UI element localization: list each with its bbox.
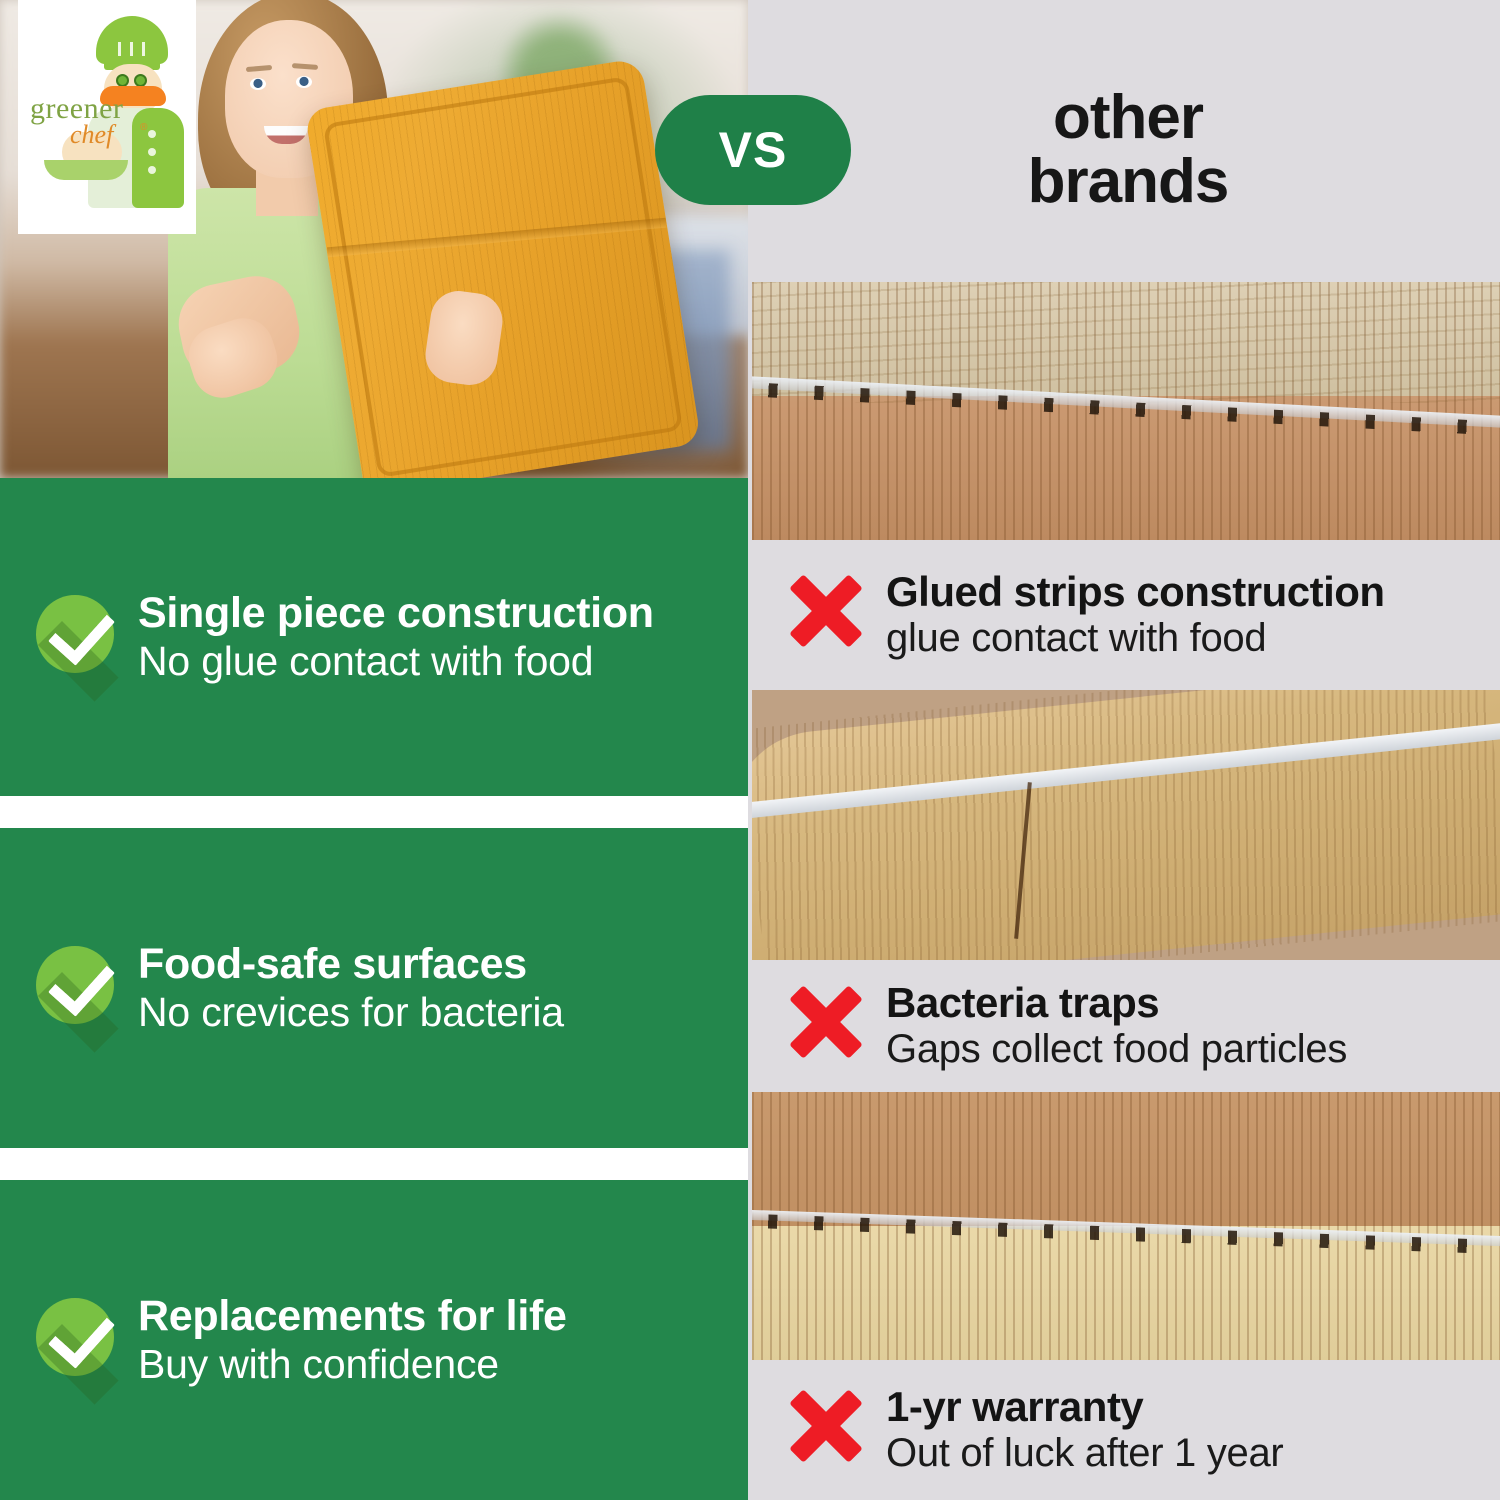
- benefit-row-3: Replacements for life Buy with confidenc…: [0, 1180, 748, 1500]
- bamboo-grain: [752, 690, 1500, 960]
- logo-registered-mark: ®: [140, 122, 147, 133]
- drawback-photo-1: [752, 282, 1500, 540]
- benefit-row-2: Food-safe surfaces No crevices for bacte…: [0, 828, 748, 1148]
- check-icon: [36, 1298, 114, 1376]
- panel-divider: [0, 796, 748, 828]
- panel-divider: [0, 1148, 748, 1180]
- chef-button: [148, 130, 156, 138]
- chef-button: [148, 166, 156, 174]
- other-brands-title: other brands: [788, 86, 1468, 215]
- chef-plate: [44, 160, 128, 180]
- benefit-text-1: Single piece construction No glue contac…: [138, 589, 654, 686]
- check-icon: [36, 946, 114, 1024]
- x-icon: [788, 984, 864, 1060]
- drawback-text-1: Glued strips construction glue contact w…: [886, 569, 1385, 662]
- benefit-subline: No crevices for bacteria: [138, 988, 564, 1036]
- drawback-headline: 1-yr warranty: [886, 1384, 1283, 1430]
- logo-subword: chef: [70, 120, 113, 150]
- vs-badge: VS: [655, 95, 851, 205]
- drawback-subline: glue contact with food: [886, 615, 1385, 661]
- bamboo-cutting-board: [305, 58, 702, 478]
- chef-button: [148, 148, 156, 156]
- drawback-text-2: Bacteria traps Gaps collect food particl…: [886, 980, 1347, 1073]
- drawback-text-3: 1-yr warranty Out of luck after 1 year: [886, 1384, 1283, 1477]
- ours-column: greener chef ® Single piece construction…: [0, 0, 748, 1500]
- benefit-headline: Food-safe surfaces: [138, 940, 564, 988]
- drawback-subline: Gaps collect food particles: [886, 1026, 1347, 1072]
- benefit-text-2: Food-safe surfaces No crevices for bacte…: [138, 940, 564, 1037]
- girl-eye-left: [250, 78, 266, 90]
- brand-logo: greener chef ®: [18, 0, 196, 234]
- drawback-photo-2: [752, 690, 1500, 960]
- drawback-subline: Out of luck after 1 year: [886, 1430, 1283, 1476]
- benefit-headline: Single piece construction: [138, 589, 654, 637]
- drawback-headline: Bacteria traps: [886, 980, 1347, 1026]
- drawback-photo-3: [752, 1092, 1500, 1360]
- benefit-subline: Buy with confidence: [138, 1340, 567, 1388]
- benefit-row-1: Single piece construction No glue contac…: [0, 478, 748, 796]
- drawback-row-3: 1-yr warranty Out of luck after 1 year: [752, 1360, 1500, 1500]
- vs-label: VS: [719, 121, 788, 179]
- chef-hat-line: [118, 42, 121, 56]
- drawback-row-1: Glued strips construction glue contact w…: [752, 540, 1500, 690]
- chef-hat-line: [142, 42, 145, 56]
- chef-hat-line: [130, 42, 133, 56]
- benefit-headline: Replacements for life: [138, 1292, 567, 1340]
- drawback-headline: Glued strips construction: [886, 569, 1385, 615]
- drawback-row-2: Bacteria traps Gaps collect food particl…: [752, 960, 1500, 1092]
- girl-eye-right: [296, 76, 312, 88]
- check-icon: [36, 595, 114, 673]
- benefit-text-3: Replacements for life Buy with confidenc…: [138, 1292, 567, 1389]
- x-icon: [788, 573, 864, 649]
- comparison-infographic: greener chef ® Single piece construction…: [0, 0, 1500, 1500]
- other-brands-title-line2: brands: [788, 150, 1468, 214]
- benefit-subline: No glue contact with food: [138, 637, 654, 685]
- other-brands-title-line1: other: [788, 86, 1468, 150]
- other-brands-column: other brands Glued strips construction g…: [748, 0, 1500, 1500]
- board-juice-groove: [323, 76, 683, 478]
- x-icon: [788, 1388, 864, 1464]
